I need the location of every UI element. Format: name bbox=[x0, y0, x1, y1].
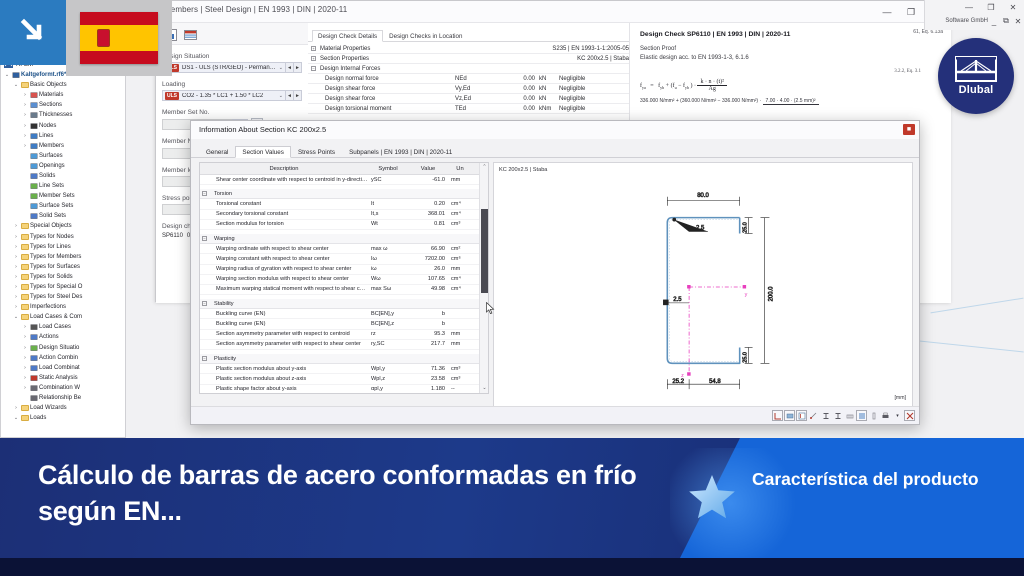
table-group-row[interactable]: −Stability bbox=[200, 299, 488, 309]
tree-item-solids[interactable]: Solids bbox=[1, 171, 125, 181]
row-value: 107.65 bbox=[408, 276, 448, 282]
surface-set-icon bbox=[29, 202, 39, 210]
expander-icon[interactable]: + bbox=[311, 56, 316, 61]
chevron-right-icon[interactable]: › bbox=[21, 133, 29, 139]
table-grid-icon[interactable] bbox=[844, 410, 855, 421]
row-note: Negligible bbox=[559, 86, 629, 92]
design-situation-icon bbox=[29, 344, 39, 352]
row-value: 0.00 bbox=[501, 86, 535, 92]
row-value: 95.3 bbox=[408, 331, 448, 337]
close-red-icon[interactable] bbox=[904, 410, 915, 421]
tree-item-action-combin[interactable]: ›Action Combin bbox=[1, 353, 125, 363]
row-description: Warping constant with respect to shear c… bbox=[200, 256, 368, 262]
i-section-icon[interactable] bbox=[820, 410, 831, 421]
section-edit-icon[interactable] bbox=[796, 410, 807, 421]
column-icon[interactable] bbox=[868, 410, 879, 421]
chevron-down-icon[interactable]: ⌄ bbox=[3, 72, 11, 78]
table-group-row[interactable]: −Torsion bbox=[200, 189, 488, 199]
tree-item-types-for-steel-des[interactable]: ›Types for Steel Des bbox=[1, 292, 125, 302]
row-description: Warping radius of gyration with respect … bbox=[200, 266, 368, 272]
table-row[interactable]: Design normal force NEd 0.00 kN Negligib… bbox=[308, 74, 629, 84]
expander-icon[interactable]: − bbox=[202, 301, 207, 306]
loading-value: CO2 - 1.35 * LC1 + 1.50 * LC2 bbox=[182, 93, 277, 99]
row-symbol: Wpl,y bbox=[368, 366, 408, 372]
chevron-down-icon[interactable]: ⌄ bbox=[279, 65, 283, 71]
table-row[interactable]: Section modulus for torsionWt0.81cm³ bbox=[200, 220, 488, 230]
outer-window-controls: — ❐ ✕ bbox=[925, 0, 1024, 14]
design-situation-prev-button[interactable]: ◄ bbox=[286, 62, 294, 73]
group-value: KC 200x2.5 | Staba bbox=[577, 56, 629, 62]
chevron-right-icon[interactable]: › bbox=[12, 223, 20, 229]
row-value: 368.01 bbox=[408, 211, 448, 217]
tree-item-load-cases-com[interactable]: ⌄Load Cases & Com bbox=[1, 312, 125, 322]
equation-numeric-line: 336.000 N/mm² + (360.000 N/mm² − 336.000… bbox=[640, 98, 943, 105]
tree-item-line-sets[interactable]: Line Sets bbox=[1, 181, 125, 191]
tree-item-design-situatio[interactable]: ›Design Situatio bbox=[1, 343, 125, 353]
tree-item-label: Load Combinat bbox=[39, 365, 80, 371]
chevron-right-icon[interactable]: › bbox=[12, 294, 20, 300]
chevron-right-icon[interactable]: › bbox=[21, 123, 29, 129]
tree-item-label: Types for Steel Des bbox=[30, 294, 82, 300]
tree-item-thicknesses[interactable]: ›Thicknesses bbox=[1, 110, 125, 120]
outer-minimize-button[interactable]: — bbox=[958, 3, 980, 12]
opening-icon bbox=[29, 162, 39, 170]
tab-design-checks-in-location[interactable]: Design Checks in Location bbox=[383, 30, 468, 42]
tab-subpanels[interactable]: Subpanels | EN 1993 | DIN | 2020-11 bbox=[342, 146, 459, 158]
row-label: Design shear force bbox=[311, 86, 455, 92]
expander-icon[interactable]: − bbox=[202, 236, 207, 241]
tree-item-nodes[interactable]: ›Nodes bbox=[1, 120, 125, 130]
chevron-right-icon[interactable]: › bbox=[21, 365, 29, 371]
tree-item-types-for-lines[interactable]: ›Types for Lines bbox=[1, 242, 125, 252]
table-row[interactable]: Buckling curve (EN)BC[EN],yb bbox=[200, 309, 488, 319]
row-value: 26.0 bbox=[408, 266, 448, 272]
table-row[interactable]: Section asymmetry parameter with respect… bbox=[200, 340, 488, 350]
row-note: Negligible bbox=[559, 106, 629, 112]
folder-icon bbox=[20, 405, 30, 411]
print-icon[interactable] bbox=[880, 410, 891, 421]
row-unit: mm bbox=[448, 266, 472, 272]
align-icon[interactable] bbox=[856, 410, 867, 421]
line-set-icon bbox=[29, 182, 39, 190]
tree-item-surface-sets[interactable]: Surface Sets bbox=[1, 201, 125, 211]
tree-item-solid-sets[interactable]: Solid Sets bbox=[1, 211, 125, 221]
row-description: Torsional constant bbox=[200, 201, 368, 207]
folder-icon bbox=[20, 415, 30, 421]
chevron-down-icon[interactable]: ⌄ bbox=[12, 415, 20, 421]
design-check-code: SP6110 bbox=[162, 233, 183, 239]
row-value: b bbox=[408, 311, 448, 317]
tree-item-members[interactable]: ›Members bbox=[1, 141, 125, 151]
row-note: Negligible bbox=[559, 96, 629, 102]
row-value: b bbox=[408, 321, 448, 327]
tree-item-label: Kaltgeformt.rf6* bbox=[21, 72, 66, 78]
design-situation-combo[interactable]: ULS DS1 - ULS (STR/GEO) - Permanent a...… bbox=[162, 62, 286, 73]
row-symbol: TEd bbox=[455, 106, 501, 112]
tree-item-member-sets[interactable]: Member Sets bbox=[1, 191, 125, 201]
combination-wizard-icon bbox=[29, 384, 39, 392]
tree-item-relationship-be[interactable]: Relationship Be bbox=[1, 393, 125, 403]
row-description: Section asymmetry parameter with respect… bbox=[200, 341, 368, 347]
chevron-right-icon[interactable]: › bbox=[12, 254, 20, 260]
section-dialog-bottom-toolbar: ▾ bbox=[191, 406, 919, 424]
row-description: Buckling curve (EN) bbox=[200, 311, 368, 317]
tree-item-label: Loads bbox=[30, 415, 46, 421]
outer-close-button[interactable]: ✕ bbox=[1002, 3, 1024, 12]
design-check-details-table: + Material Properties S235 | EN 1993-1-1… bbox=[308, 42, 629, 114]
row-value: -61.0 bbox=[408, 177, 448, 183]
measure-icon[interactable] bbox=[772, 410, 783, 421]
column-header-value: Value bbox=[408, 166, 448, 172]
design-situation-row: ULS DS1 - ULS (STR/GEO) - Permanent a...… bbox=[162, 62, 302, 73]
inner-minimize-button[interactable]: _ bbox=[988, 17, 1000, 26]
static-analysis-icon bbox=[29, 374, 39, 382]
table-header-row: Description Symbol Value Un bbox=[200, 163, 488, 175]
table-row[interactable]: Warping radius of gyration with respect … bbox=[200, 265, 488, 275]
equation-equals: = bbox=[650, 83, 653, 89]
row-description: Buckling curve (EN) bbox=[200, 321, 368, 327]
row-unit: kN bbox=[535, 96, 559, 102]
tree-item-label: Types for Members bbox=[30, 254, 81, 260]
tree-item-label: Load Wizards bbox=[30, 405, 67, 411]
row-unit: cm³ bbox=[448, 366, 472, 372]
table-row[interactable]: Buckling curve (EN)BC[EN],zb bbox=[200, 319, 488, 329]
inner-maximize-button[interactable]: ⧉ bbox=[1000, 16, 1012, 26]
navigator-tree: ⌄Kaltgeformt.rf6*⌄Basic Objects›Material… bbox=[1, 70, 125, 423]
row-unit: -- bbox=[448, 386, 472, 392]
folder-icon bbox=[20, 294, 30, 300]
rfem-navigator[interactable]: RFEM ⌄Kaltgeformt.rf6*⌄Basic Objects›Mat… bbox=[0, 58, 126, 438]
design-equation: fya = fyb + (fu − fyb ) · k · n · (t)² A… bbox=[640, 79, 943, 92]
design-check-details-tabs: Design Check Details Design Checks in Lo… bbox=[308, 29, 629, 42]
banner-title: Cálculo de barras de acero conformadas e… bbox=[38, 458, 658, 530]
chevron-down-icon[interactable]: ⌄ bbox=[12, 314, 20, 320]
tree-item-openings[interactable]: Openings bbox=[1, 161, 125, 171]
design-check-panel-title: Design Check SP6110 | EN 1993 | DIN | 20… bbox=[640, 31, 943, 38]
tree-item-label: Combination W bbox=[39, 385, 80, 391]
tree-item-label: Materials bbox=[39, 92, 63, 98]
table-row[interactable]: Design shear force Vy,Ed 0.00 kN Negligi… bbox=[308, 84, 629, 94]
tree-item-load-cases[interactable]: ›Load Cases bbox=[1, 322, 125, 332]
flag-stripe-bottom bbox=[80, 51, 158, 64]
row-value: 1.180 bbox=[408, 386, 448, 392]
tree-item-label: Members bbox=[39, 143, 64, 149]
tree-item-load-combinat[interactable]: ›Load Combinat bbox=[1, 363, 125, 373]
row-symbol: rz bbox=[368, 331, 408, 337]
tree-item-load-wizards[interactable]: ›Load Wizards bbox=[1, 403, 125, 413]
tree-item-label: Surface Sets bbox=[39, 203, 73, 209]
solid-icon bbox=[29, 172, 39, 180]
chevron-right-icon[interactable]: › bbox=[21, 92, 29, 98]
table-row[interactable]: + Material Properties S235 | EN 1993-1-1… bbox=[308, 44, 629, 54]
loading-next-button[interactable]: ► bbox=[294, 90, 302, 101]
tree-item-special-objects[interactable]: ›Special Objects bbox=[1, 221, 125, 231]
equation-term-3-sub: yb bbox=[685, 85, 689, 90]
tree-item-types-for-solids[interactable]: ›Types for Solids bbox=[1, 272, 125, 282]
tree-item-label: Imperfections bbox=[30, 304, 66, 310]
banner-subtitle: Característica del producto bbox=[752, 468, 1012, 492]
tree-item-imperfections[interactable]: ›Imperfections bbox=[1, 302, 125, 312]
tree-item-label: Thicknesses bbox=[39, 112, 72, 118]
row-description: Warping ordinate with respect to shear c… bbox=[200, 246, 368, 252]
row-unit: mm bbox=[448, 177, 472, 183]
table-row[interactable]: Torsional constantIt0.20cm⁴ bbox=[200, 199, 488, 209]
table-row[interactable]: Plastic shape factor about y-axisαpl,y1.… bbox=[200, 385, 488, 394]
group-label: Plasticity bbox=[210, 356, 360, 362]
chevron-right-icon[interactable]: › bbox=[21, 385, 29, 391]
action-combination-icon bbox=[29, 354, 39, 362]
row-value: 0.20 bbox=[408, 201, 448, 207]
relationship-icon bbox=[29, 394, 39, 402]
table-group-row[interactable]: −Plasticity bbox=[200, 354, 488, 364]
scrollbar-thumb[interactable] bbox=[481, 209, 488, 293]
dim-bottom-left: 25.2 bbox=[672, 379, 684, 385]
design-situation-next-button[interactable]: ► bbox=[294, 62, 302, 73]
row-symbol: Wω bbox=[368, 276, 408, 282]
folder-icon bbox=[20, 304, 30, 310]
chevron-right-icon[interactable]: › bbox=[12, 234, 20, 240]
scroll-up-icon[interactable]: ⌃ bbox=[481, 164, 488, 173]
dlubal-logo-badge: Dlubal bbox=[938, 38, 1014, 114]
section-drawing[interactable]: 80.0 200.0 bbox=[494, 173, 912, 401]
tree-item-label: Lines bbox=[39, 133, 53, 139]
dlubal-wordmark: Dlubal bbox=[959, 84, 994, 96]
row-description: Maximum warping statical moment with res… bbox=[200, 286, 368, 292]
tree-item-lines[interactable]: ›Lines bbox=[1, 131, 125, 141]
table-icon[interactable] bbox=[184, 28, 197, 40]
design-check-subtitle-1: Section Proof bbox=[640, 45, 943, 54]
chevron-right-icon[interactable]: › bbox=[21, 345, 29, 351]
group-label: Material Properties bbox=[320, 46, 552, 52]
print-preview-icon[interactable] bbox=[784, 410, 795, 421]
row-value: 23.58 bbox=[408, 376, 448, 382]
expander-icon[interactable]: − bbox=[311, 66, 316, 71]
tree-item-types-for-surfaces[interactable]: ›Types for Surfaces bbox=[1, 262, 125, 272]
section-preview-panel: KC 200x2.5 | Staba [mm] bbox=[493, 162, 913, 424]
tree-item-materials[interactable]: ›Materials bbox=[1, 90, 125, 100]
tree-item-static-analysis[interactable]: ›Static Analysis bbox=[1, 373, 125, 383]
uls-badge: ULS bbox=[165, 92, 179, 100]
section-values-rows: Shear center coordinate with respect to … bbox=[200, 175, 488, 394]
row-unit: cm³ bbox=[448, 376, 472, 382]
row-description: Plastic section modulus about z-axis bbox=[200, 376, 368, 382]
row-value: 7202.00 bbox=[408, 256, 448, 262]
tree-item-label: Nodes bbox=[39, 123, 56, 129]
row-unit: kN bbox=[535, 76, 559, 82]
tree-item-loads[interactable]: ⌄Loads bbox=[1, 413, 125, 423]
loading-prev-button[interactable]: ◄ bbox=[286, 90, 294, 101]
chevron-right-icon[interactable]: › bbox=[12, 304, 20, 310]
chevron-down-icon[interactable]: ⌄ bbox=[279, 93, 283, 99]
group-value: S235 | EN 1993-1-1:2005-05 bbox=[552, 46, 629, 52]
solid-set-icon bbox=[29, 212, 39, 220]
table-row[interactable]: Section asymmetry parameter with respect… bbox=[200, 330, 488, 340]
equation-plus: + bbox=[666, 83, 669, 89]
column-header-unit: Un bbox=[448, 166, 472, 172]
dim-bottom-right: 54.8 bbox=[709, 379, 721, 385]
tree-item-types-for-members[interactable]: ›Types for Members bbox=[1, 252, 125, 262]
chevron-right-icon[interactable]: › bbox=[12, 405, 20, 411]
expander-icon[interactable]: − bbox=[202, 191, 207, 196]
chevron-right-icon[interactable]: › bbox=[21, 334, 29, 340]
scroll-down-icon[interactable]: ⌄ bbox=[481, 385, 488, 394]
tree-item-label: Basic Objects bbox=[30, 82, 67, 88]
row-symbol: Vz,Ed bbox=[455, 96, 501, 102]
row-description: Plastic shape factor about y-axis bbox=[200, 386, 368, 392]
chevron-right-icon[interactable]: › bbox=[12, 244, 20, 250]
row-symbol: iω bbox=[368, 266, 408, 272]
flag-coat-of-arms bbox=[97, 29, 109, 48]
chevron-right-icon[interactable]: › bbox=[21, 143, 29, 149]
table-group-row[interactable]: −Warping bbox=[200, 234, 488, 244]
section-information-dialog: Information About Section KC 200x2.5 ■ G… bbox=[190, 120, 920, 425]
group-label: Warping bbox=[210, 236, 360, 242]
group-label: Design Internal Forces bbox=[320, 66, 629, 72]
tree-item-label: Surfaces bbox=[39, 153, 63, 159]
tab-design-check-details[interactable]: Design Check Details bbox=[312, 30, 383, 42]
tree-item-label: Types for Special O bbox=[30, 284, 82, 290]
row-symbol: Wt bbox=[368, 221, 408, 227]
tree-item-actions[interactable]: ›Actions bbox=[1, 332, 125, 342]
row-value: 66.90 bbox=[408, 246, 448, 252]
loading-combo[interactable]: ULS CO2 - 1.35 * LC1 + 1.50 * LC2 ⌄ bbox=[162, 90, 286, 101]
table-row[interactable]: Maximum warping statical moment with res… bbox=[200, 285, 488, 295]
equation-lhs-sub: ya bbox=[642, 85, 646, 90]
chevron-right-icon[interactable]: › bbox=[21, 355, 29, 361]
row-unit: cm⁴ bbox=[448, 286, 472, 292]
flag-stripe-middle bbox=[80, 25, 158, 51]
equation-term-2-sub: u bbox=[675, 85, 677, 90]
load-combination-icon bbox=[29, 364, 39, 372]
table-row[interactable]: Design shear force Vz,Ed 0.00 kN Negligi… bbox=[308, 94, 629, 104]
flag-stripe-top bbox=[80, 12, 158, 25]
table-row[interactable]: Plastic section modulus about y-axisWpl,… bbox=[200, 364, 488, 374]
tab-stress-points[interactable]: Stress Points bbox=[291, 146, 342, 158]
row-unit: cm³ bbox=[448, 221, 472, 227]
table-row[interactable]: − Design Internal Forces bbox=[308, 64, 629, 74]
equation-term-4: ) · bbox=[690, 83, 696, 89]
section-dialog-tabs: General Section Values Stress Points Sub… bbox=[191, 145, 919, 158]
folder-icon bbox=[20, 284, 30, 290]
folder-icon bbox=[20, 314, 30, 320]
sections-icon bbox=[29, 101, 39, 109]
design-situation-label: Design Situation bbox=[162, 53, 302, 60]
chevron-right-icon[interactable]: › bbox=[12, 284, 20, 290]
chevron-right-icon[interactable]: › bbox=[21, 112, 29, 118]
table-row[interactable]: Shear center coordinate with respect to … bbox=[200, 175, 488, 185]
row-unit: cm⁶ bbox=[448, 256, 472, 262]
members-window-titlebar: Members | Steel Design | EN 1993 | DIN |… bbox=[156, 1, 949, 23]
row-label: Design shear force bbox=[311, 96, 455, 102]
table-row[interactable]: Plastic section modulus about z-axisWpl,… bbox=[200, 374, 488, 384]
tree-item-combination-w[interactable]: ›Combination W bbox=[1, 383, 125, 393]
tree-item-sections[interactable]: ›Sections bbox=[1, 100, 125, 110]
chevron-right-icon[interactable]: › bbox=[21, 375, 29, 381]
banner-bottom-bar bbox=[0, 558, 1024, 576]
row-symbol: max ω bbox=[368, 246, 408, 252]
group-label: Stability bbox=[210, 301, 360, 307]
row-value: 0.00 bbox=[501, 106, 535, 112]
star-icon bbox=[688, 474, 736, 520]
tree-item-basic-objects[interactable]: ⌄Basic Objects bbox=[1, 80, 125, 90]
i-section-2-icon[interactable] bbox=[832, 410, 843, 421]
row-unit: cm⁴ bbox=[448, 201, 472, 207]
row-unit: kN bbox=[535, 86, 559, 92]
row-symbol: BC[EN],z bbox=[368, 321, 408, 327]
column-header-symbol: Symbol bbox=[368, 166, 408, 172]
row-description: Shear center coordinate with respect to … bbox=[200, 177, 368, 183]
tree-item-label: Load Cases bbox=[39, 324, 71, 330]
dimension-icon[interactable] bbox=[808, 410, 819, 421]
equation-reference: 3.2.2, Eq. 3.1 bbox=[894, 69, 921, 74]
node-icon bbox=[29, 122, 39, 130]
tab-section-values[interactable]: Section Values bbox=[235, 146, 291, 158]
equation-numerator: k · n · (t)² bbox=[697, 79, 726, 86]
table-row[interactable]: Warping ordinate with respect to shear c… bbox=[200, 244, 488, 254]
maximize-button[interactable]: ❐ bbox=[899, 3, 923, 21]
tree-item-label: Types for Solids bbox=[30, 274, 73, 280]
folder-icon bbox=[20, 264, 30, 270]
tree-item-label: Openings bbox=[39, 163, 65, 169]
table-row[interactable]: Secondary torsional constantIt,s368.01cm… bbox=[200, 210, 488, 220]
section-dialog-titlebar: Information About Section KC 200x2.5 ■ bbox=[191, 121, 919, 139]
table-row[interactable]: Warping constant with respect to shear c… bbox=[200, 254, 488, 264]
table-row[interactable]: Design torsional moment TEd 0.00 kNm Neg… bbox=[308, 104, 629, 114]
company-label: Software GmbH bbox=[941, 18, 988, 24]
group-label: Torsion bbox=[210, 191, 360, 197]
thickness-icon bbox=[29, 111, 39, 119]
chevron-right-icon[interactable]: › bbox=[12, 264, 20, 270]
row-label: Design normal force bbox=[311, 76, 455, 82]
outer-maximize-button[interactable]: ❐ bbox=[980, 3, 1002, 12]
row-description: Section modulus for torsion bbox=[200, 221, 368, 227]
tree-item-label: Line Sets bbox=[39, 183, 64, 189]
tree-item-surfaces[interactable]: Surfaces bbox=[1, 151, 125, 161]
row-value: 0.81 bbox=[408, 221, 448, 227]
table-row[interactable]: Warping section modulus with respect to … bbox=[200, 275, 488, 285]
dim-thickness-web: 2.5 bbox=[673, 297, 682, 303]
chevron-down-icon[interactable]: ⌄ bbox=[12, 82, 20, 88]
tab-general[interactable]: General bbox=[199, 146, 235, 158]
chevron-right-icon[interactable]: › bbox=[21, 324, 29, 330]
vertical-scrollbar[interactable]: ⌃ ⌄ bbox=[479, 163, 488, 394]
dropdown-caret[interactable]: ▾ bbox=[892, 410, 903, 421]
actions-icon bbox=[29, 333, 39, 341]
tree-item-types-for-special-o[interactable]: ›Types for Special O bbox=[1, 282, 125, 292]
chevron-right-icon[interactable]: › bbox=[21, 102, 29, 108]
close-icon[interactable]: ■ bbox=[903, 124, 915, 135]
load-case-icon bbox=[29, 323, 39, 331]
tree-item-label: Solids bbox=[39, 173, 55, 179]
tree-item-label: Relationship Be bbox=[39, 395, 81, 401]
expander-icon[interactable]: + bbox=[311, 46, 316, 51]
chevron-right-icon[interactable]: › bbox=[12, 274, 20, 280]
inner-close-button[interactable]: ✕ bbox=[1012, 17, 1024, 26]
member-set-icon bbox=[29, 192, 39, 200]
surface-icon bbox=[29, 152, 39, 160]
expander-icon[interactable]: − bbox=[202, 356, 207, 361]
row-symbol: Wpl,z bbox=[368, 376, 408, 382]
folder-icon bbox=[20, 234, 30, 240]
table-row[interactable]: + Section Properties KC 200x2.5 | Staba bbox=[308, 54, 629, 64]
member-icon bbox=[29, 142, 39, 150]
minimize-button[interactable]: — bbox=[875, 3, 899, 21]
tree-item-label: Action Combin bbox=[39, 355, 78, 361]
video-title-banner: Cálculo de barras de acero conformadas e… bbox=[0, 438, 1024, 576]
tree-item-types-for-nodes[interactable]: ›Types for Nodes bbox=[1, 232, 125, 242]
folder-icon bbox=[20, 274, 30, 280]
group-label: Section Properties bbox=[320, 56, 577, 62]
